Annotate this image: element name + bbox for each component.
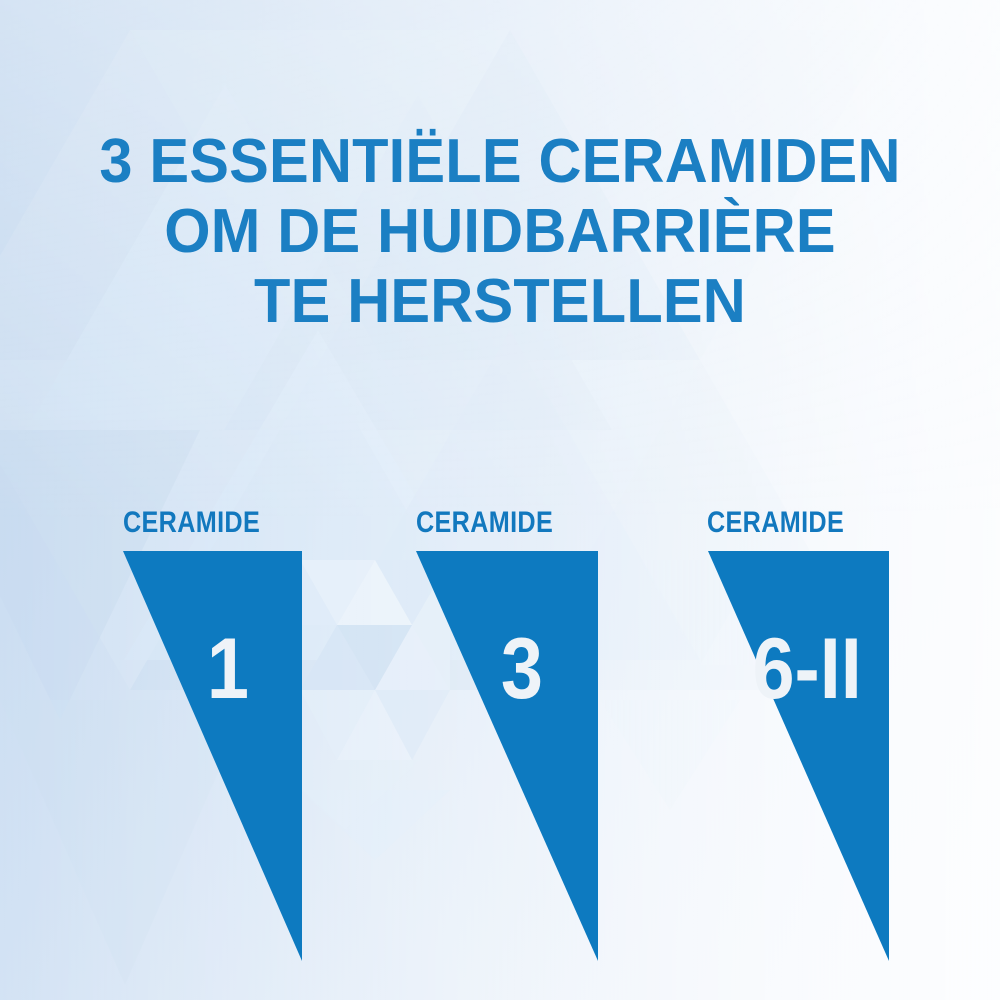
ceramide-3-wedge-icon	[703, 551, 898, 963]
headline-line-2: OM DE HUIDBARRIÈRE	[20, 201, 980, 263]
ceramide-1-label: CERAMIDE	[123, 506, 260, 540]
ceramide-2-wedge-icon	[412, 551, 602, 963]
headline: 3 ESSENTIËLE CERAMIDEN OM DE HUIDBARRIÈR…	[0, 131, 1000, 341]
headline-line-3: TE HERSTELLEN	[20, 271, 980, 333]
ceramide-2-label: CERAMIDE	[416, 506, 553, 540]
ceramide-1-number: 1	[207, 626, 249, 712]
headline-line-1: 3 ESSENTIËLE CERAMIDEN	[20, 131, 980, 193]
ceramide-3-label: CERAMIDE	[707, 506, 844, 540]
ceramide-3-number: 6-II	[752, 626, 861, 712]
ceramide-2-number: 3	[501, 626, 543, 712]
ceramide-1-wedge-icon	[118, 551, 308, 963]
promo-graphic: 3 ESSENTIËLE CERAMIDEN OM DE HUIDBARRIÈR…	[0, 0, 1000, 1000]
